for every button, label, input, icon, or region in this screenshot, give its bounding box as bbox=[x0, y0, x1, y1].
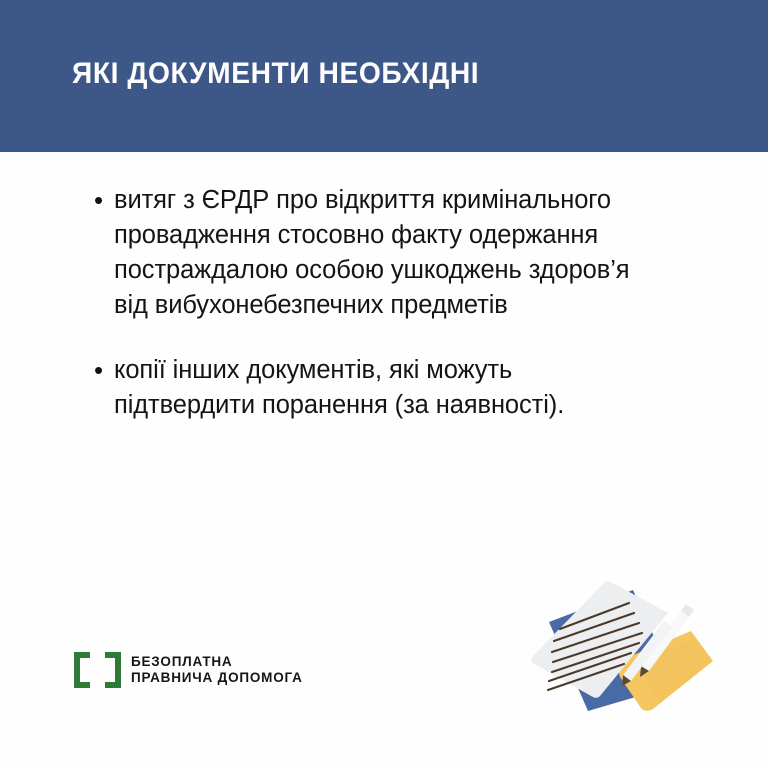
list-item-line: постраждалою особою ушкоджень здоров’я bbox=[114, 253, 702, 288]
list-item-line: копії інших документів, які можуть bbox=[114, 353, 702, 388]
list-item-line: провадження стосовно факту одержання bbox=[114, 218, 702, 253]
list-item: • копії інших документів, які можуть під… bbox=[92, 353, 702, 423]
bracket-right-icon bbox=[105, 652, 121, 688]
bullet-marker-icon: • bbox=[92, 183, 114, 218]
list-item-text: витяг з ЄРДР про відкриття кримінального… bbox=[114, 183, 702, 323]
list-item-line: витяг з ЄРДР про відкриття кримінального bbox=[114, 183, 702, 218]
list-item-line: від вибухонебезпечних предметів bbox=[114, 288, 702, 323]
logo-text-line-1: БЕЗОПЛАТНА bbox=[131, 654, 303, 670]
header-banner: ЯКІ ДОКУМЕНТИ НЕОБХІДНІ bbox=[0, 0, 768, 152]
bullet-marker-icon: • bbox=[92, 353, 114, 388]
logo-text-line-2: ПРАВНИЧА ДОПОМОГА bbox=[131, 670, 303, 686]
slide-root: ЯКІ ДОКУМЕНТИ НЕОБХІДНІ • витяг з ЄРДР п… bbox=[0, 0, 768, 768]
list-item-text: копії інших документів, які можуть підтв… bbox=[114, 353, 702, 423]
list-item: • витяг з ЄРДР про відкриття кримінально… bbox=[92, 183, 702, 323]
bracket-left-icon bbox=[74, 652, 90, 688]
documents-and-pencil-illustration bbox=[508, 565, 724, 717]
page-title: ЯКІ ДОКУМЕНТИ НЕОБХІДНІ bbox=[72, 56, 479, 92]
brackets-icon bbox=[74, 652, 121, 688]
bullet-list: • витяг з ЄРДР про відкриття кримінально… bbox=[92, 183, 702, 423]
list-item-line: підтвердити поранення (за наявності). bbox=[114, 388, 702, 423]
logo-text: БЕЗОПЛАТНА ПРАВНИЧА ДОПОМОГА bbox=[131, 654, 303, 686]
logo: БЕЗОПЛАТНА ПРАВНИЧА ДОПОМОГА bbox=[74, 652, 303, 688]
